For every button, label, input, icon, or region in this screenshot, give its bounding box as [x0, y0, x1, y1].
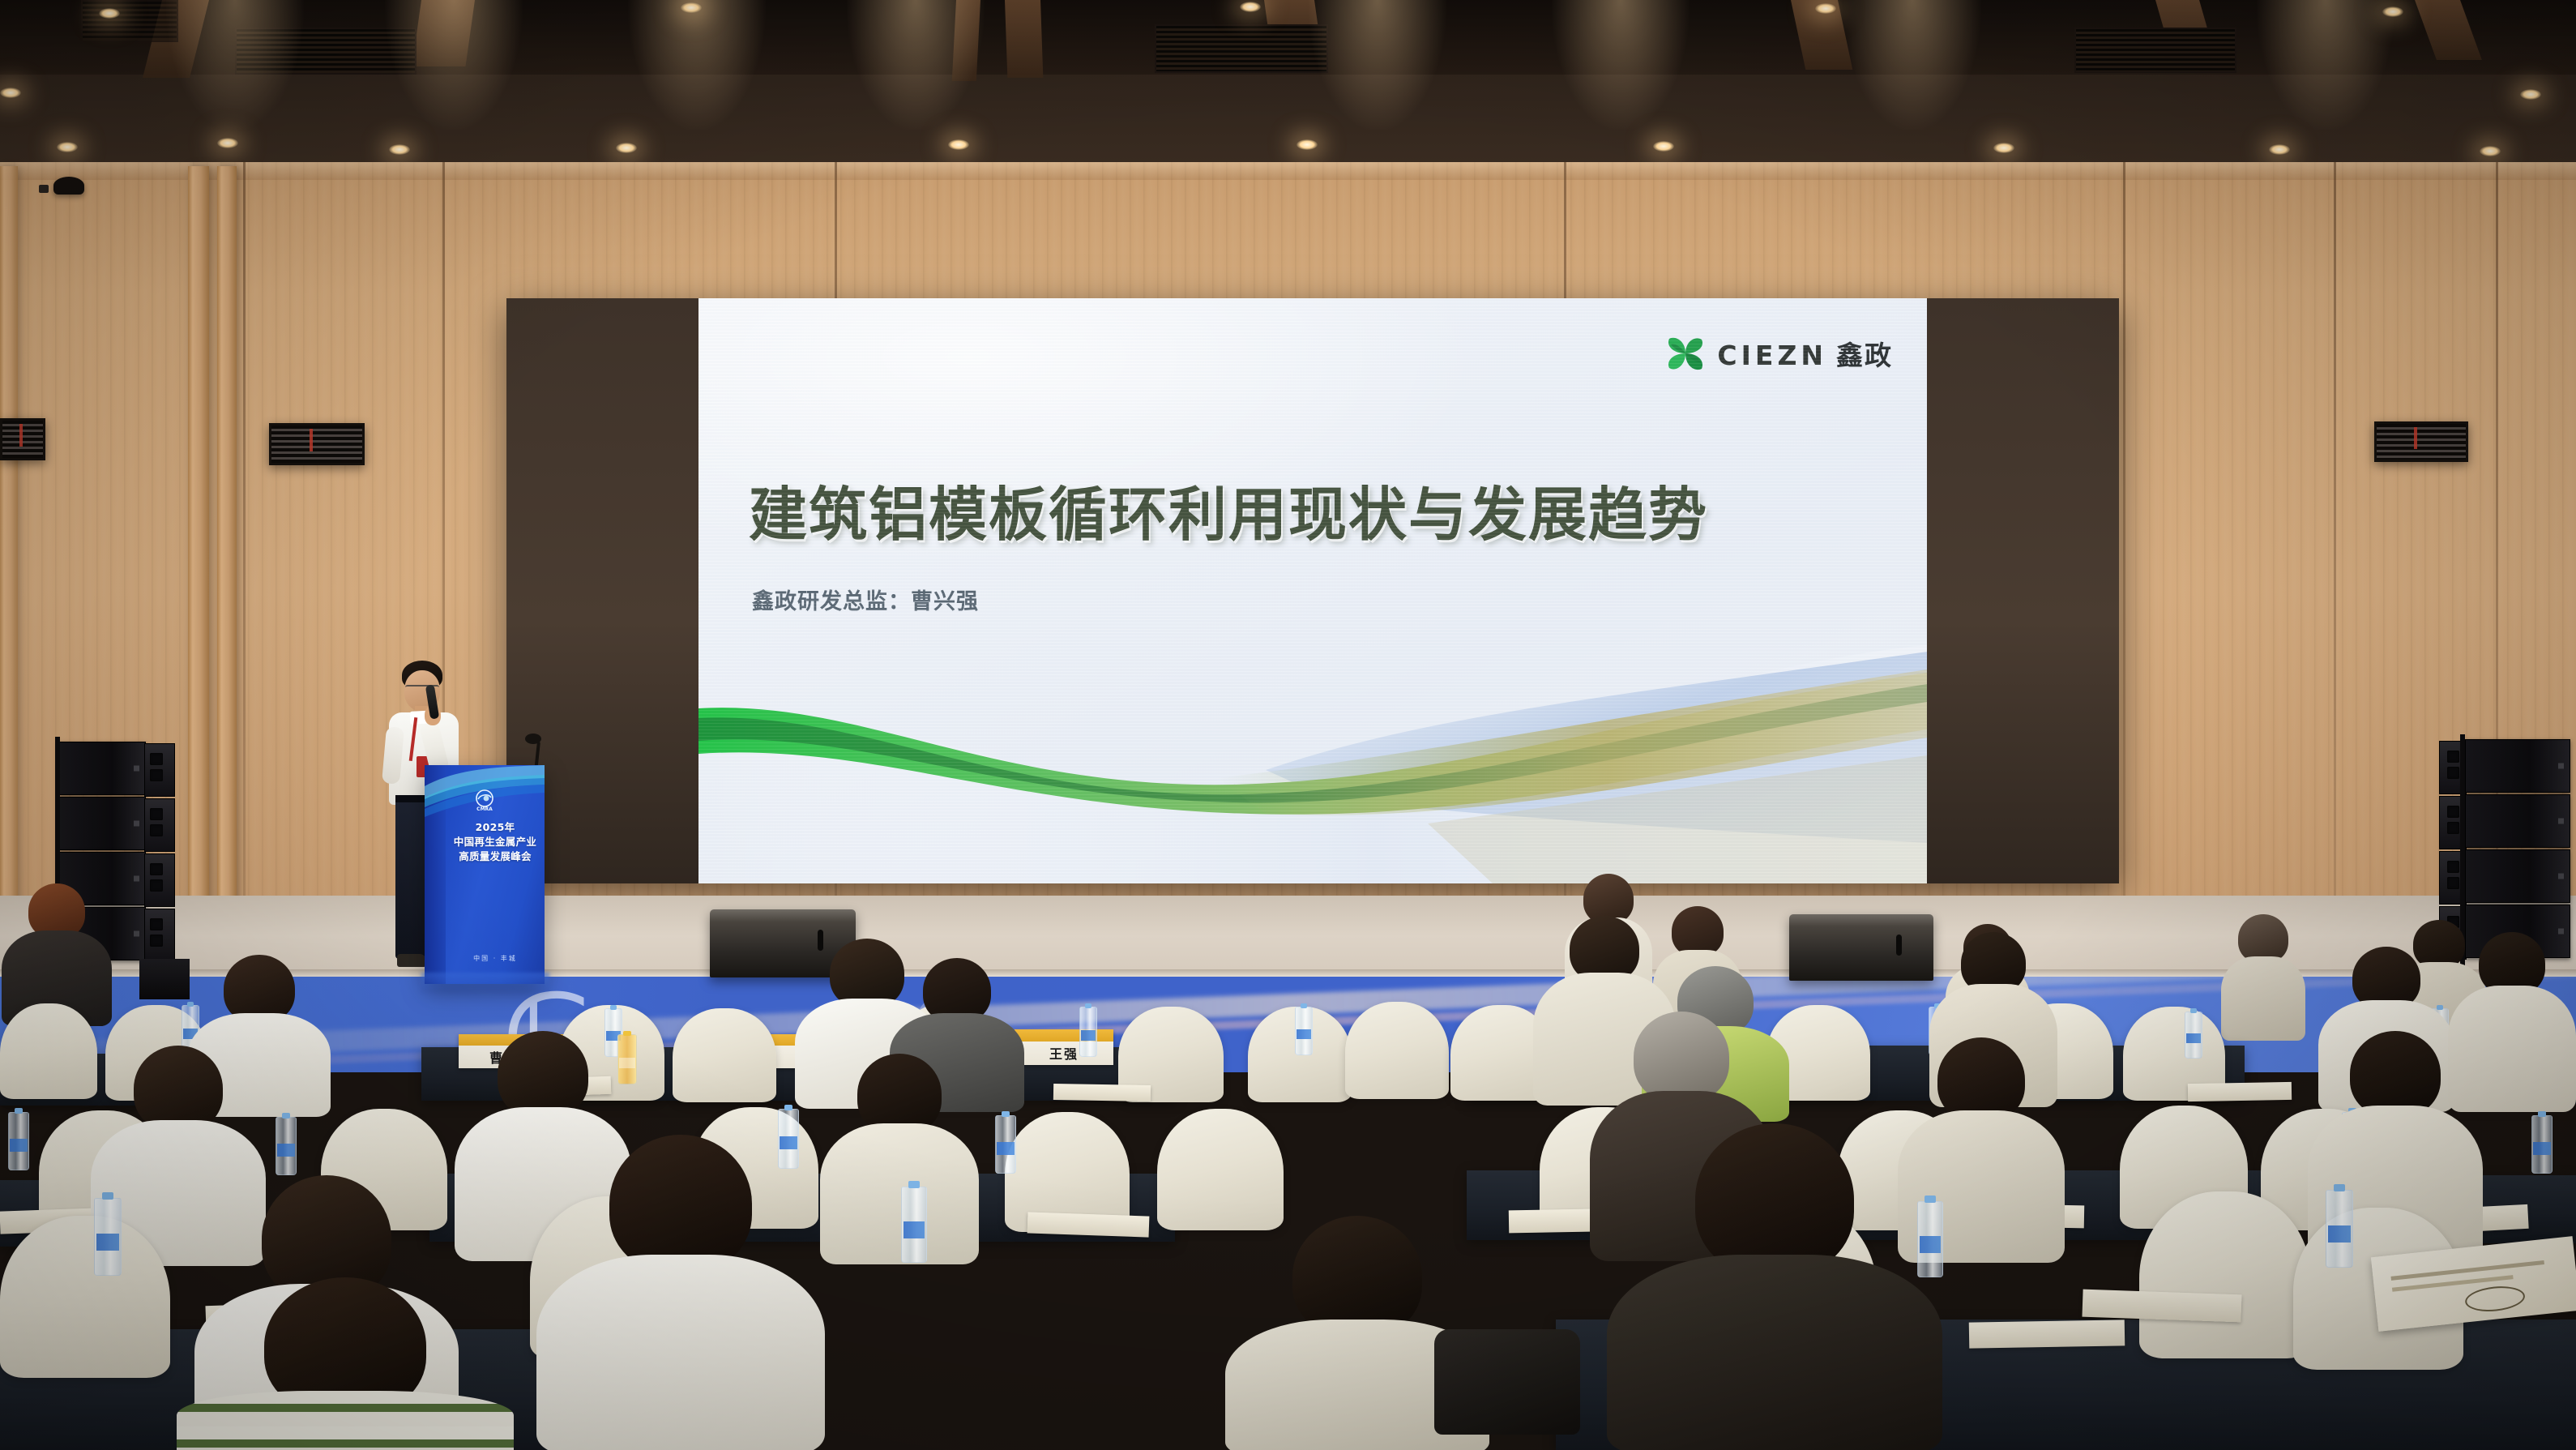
audience-head	[1634, 1012, 1729, 1102]
slide-logo: CIEZN 鑫政	[1664, 332, 1893, 374]
line-array-port	[150, 808, 163, 820]
line-array-port	[150, 935, 163, 947]
line-array-port	[2447, 877, 2459, 889]
audience-chair	[0, 1003, 97, 1099]
line-array-module	[58, 797, 146, 850]
wall-sensor	[39, 185, 49, 193]
recessed-downlight	[2520, 89, 2541, 100]
wall-panel-seam	[2123, 162, 2125, 981]
water-bottle	[995, 1115, 1016, 1174]
audience-member	[2220, 914, 2306, 1036]
line-array-port	[150, 918, 163, 930]
audience-body	[2221, 956, 2305, 1041]
water-bottle	[2326, 1190, 2353, 1268]
line-array-port	[150, 769, 163, 781]
water-bottle	[276, 1117, 297, 1175]
slide-subtitle: 鑫政研发总监：曹兴强	[752, 584, 979, 615]
podium-location-label: 中国 · 丰城	[446, 954, 545, 963]
ceiling-vent-grille	[2074, 28, 2236, 73]
notepad	[1027, 1212, 1150, 1237]
cmra-logo-icon: CMRA	[472, 788, 497, 812]
line-array-module	[2465, 794, 2570, 848]
recessed-downlight	[2480, 146, 2501, 156]
audience-chair	[2139, 1191, 2311, 1358]
podium-title-year: 2025年	[446, 820, 545, 835]
audience-chair	[1345, 1002, 1449, 1099]
line-array-port	[2447, 767, 2459, 779]
ceiling-light-wash	[1843, 0, 1981, 130]
recessed-downlight	[948, 139, 969, 150]
audience-member-striped-polo	[175, 1277, 515, 1450]
audience-member	[818, 1054, 980, 1256]
audience-chair	[1157, 1109, 1284, 1230]
audience-head	[134, 1046, 223, 1131]
water-bottle	[8, 1112, 29, 1170]
wall-vent-grille	[2374, 421, 2468, 462]
recessed-downlight	[1653, 141, 1674, 152]
recessed-downlight	[99, 8, 120, 19]
recessed-downlight	[389, 144, 410, 155]
audience-head	[2350, 1031, 2441, 1117]
line-array-module	[2465, 739, 2570, 793]
audience-head	[857, 1054, 942, 1135]
notepad	[1053, 1084, 1151, 1101]
line-array-port	[2447, 806, 2459, 818]
wall-pilaster	[217, 166, 237, 981]
recessed-downlight	[0, 88, 21, 98]
name-card: 王强	[1015, 1029, 1113, 1065]
water-bottle	[901, 1187, 927, 1263]
ceiling-vent-grille	[1155, 24, 1328, 73]
audience-body	[820, 1123, 979, 1264]
ciezn-pinwheel-logo-icon	[1664, 332, 1707, 374]
line-array-port	[150, 879, 163, 892]
line-array-port	[2447, 751, 2459, 763]
audience-head	[2238, 914, 2288, 963]
audience-body	[1607, 1255, 1942, 1450]
ceiling-light-wash	[385, 0, 523, 130]
podium: CMRA 2025年 中国再生金属产业 高质量发展峰会 中国 · 丰城	[425, 765, 545, 984]
line-array-module	[2465, 849, 2570, 903]
water-bottle	[1079, 1007, 1097, 1057]
recessed-downlight	[57, 142, 78, 152]
audience-member	[535, 1135, 827, 1450]
slide-wave-graphic	[698, 640, 1927, 883]
wall-vent-grille	[0, 418, 45, 460]
water-bottle	[2531, 1115, 2553, 1174]
ceiling-vent-grille	[81, 0, 178, 42]
water-bottle	[2185, 1012, 2202, 1059]
water-bottle	[1295, 1007, 1313, 1055]
recessed-downlight	[2269, 144, 2290, 155]
recessed-downlight	[1297, 139, 1318, 150]
line-array-module	[58, 742, 146, 795]
ceiling-light-wash	[1552, 0, 1690, 130]
audience-head	[1937, 1037, 2025, 1122]
led-video-wall: CIEZN 鑫政 建筑铝模板循环利用现状与发展趋势 鑫政研发总监：曹兴强	[506, 298, 2119, 883]
stage-monitor-speaker	[1789, 914, 1933, 981]
wall-vent-grille	[269, 423, 365, 465]
notepad	[2082, 1290, 2241, 1323]
logo-chinese-text: 鑫政	[1836, 334, 1893, 373]
audience-chair	[673, 1008, 776, 1102]
wall-light-band	[0, 162, 2576, 180]
line-array-port	[150, 753, 163, 765]
line-array-port	[2447, 822, 2459, 834]
audience-member	[0, 883, 113, 1021]
speaker-subwoofer	[139, 959, 190, 999]
podium-event-title: 2025年 中国再生金属产业 高质量发展峰会	[446, 820, 545, 863]
audience-body-striped	[177, 1391, 514, 1450]
wall-panel-seam	[243, 162, 246, 981]
cmra-logo-label: CMRA	[476, 806, 493, 812]
podium-title-line2: 中国再生金属产业	[446, 835, 545, 849]
podium-floor-reflection	[421, 973, 549, 992]
ceiling-light-wash	[2257, 0, 2394, 130]
ceiling-light-wash	[1309, 0, 1446, 130]
water-bottle	[94, 1198, 122, 1276]
ceiling-light-wash	[628, 0, 766, 130]
notepad	[2188, 1082, 2292, 1101]
brochure-text-line	[2390, 1260, 2544, 1281]
notepad	[1969, 1320, 2125, 1348]
audience-head	[609, 1135, 752, 1272]
floor-bag	[1434, 1329, 1580, 1435]
audience-body	[536, 1255, 825, 1450]
audience-chair	[0, 1216, 170, 1378]
name-card-header-band	[1015, 1029, 1113, 1042]
ceiling-beam	[1005, 0, 1043, 78]
brochure-seal-icon	[2464, 1284, 2527, 1315]
slide-title: 建筑铝模板循环利用现状与发展趋势	[749, 467, 1708, 552]
logo-english-text: CIEZN	[1717, 340, 1827, 371]
wall-panel-seam	[2334, 162, 2336, 981]
audience-head	[498, 1031, 588, 1119]
ceiling-light-wash	[847, 0, 985, 130]
speaker-shoe	[397, 954, 426, 967]
line-array-port	[2447, 861, 2459, 873]
podium-microphone-head	[525, 734, 541, 744]
audience-head	[1695, 1123, 1854, 1276]
led-wall-side-panel-right	[1927, 298, 2119, 883]
recessed-downlight	[1815, 3, 1836, 14]
wall-pilaster	[0, 166, 18, 981]
conference-hall-scene: CIEZN 鑫政 建筑铝模板循环利用现状与发展趋势 鑫政研发总监：曹兴强	[0, 0, 2576, 1450]
recessed-downlight	[616, 143, 637, 153]
ceiling-camera	[53, 177, 84, 195]
recessed-downlight	[1240, 2, 1261, 12]
slide-logo-text: CIEZN 鑫政	[1717, 334, 1893, 373]
audience-head	[1672, 906, 1724, 956]
recessed-downlight	[2382, 6, 2403, 17]
line-array-port	[150, 863, 163, 875]
presentation-slide: CIEZN 鑫政 建筑铝模板循环利用现状与发展趋势 鑫政研发总监：曹兴强	[698, 298, 1927, 883]
name-card-name: 王强	[1015, 1042, 1113, 1065]
recessed-downlight	[681, 2, 702, 13]
audience-member	[1604, 1123, 1945, 1450]
ceiling-light-wash	[166, 0, 304, 130]
podium-title-line3: 高质量发展峰会	[446, 849, 545, 864]
recessed-downlight	[1993, 143, 2014, 153]
recessed-downlight	[217, 138, 238, 148]
line-array-port	[150, 824, 163, 836]
